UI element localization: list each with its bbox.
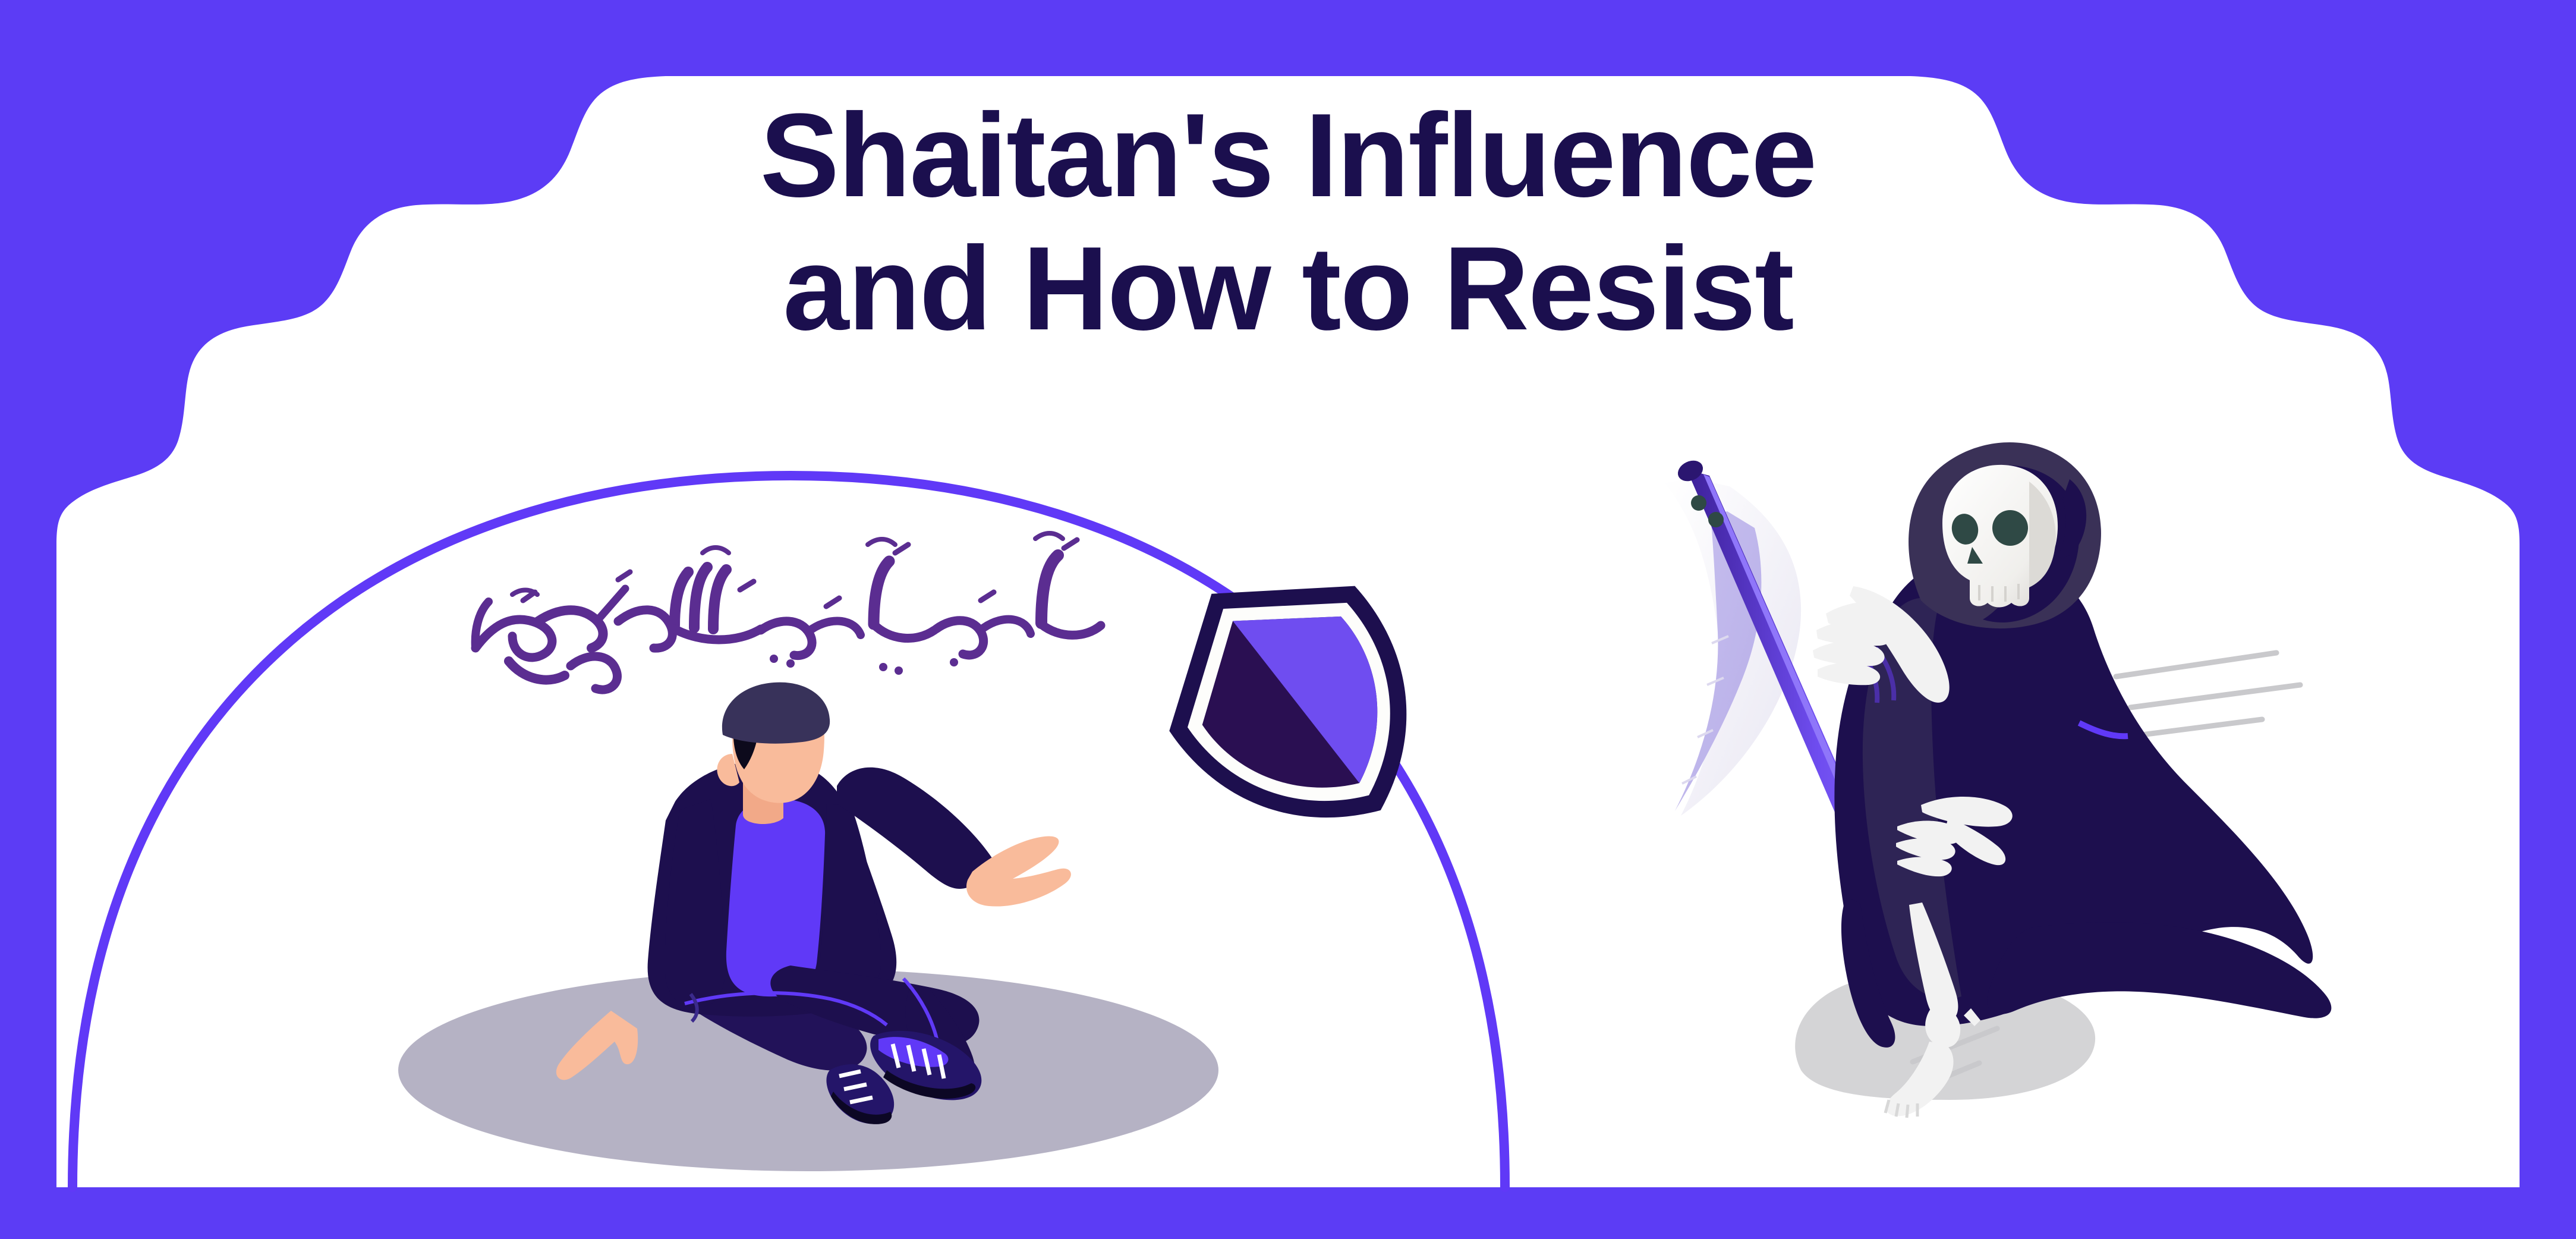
scythe-rivet-1 (1691, 495, 1706, 511)
arabic-calligraphy (475, 533, 1101, 690)
shirt (726, 799, 825, 996)
shield-icon (1119, 521, 1474, 883)
kufi-cap (722, 683, 830, 744)
poster-canvas: Shaitan's Influence and How to Resist (0, 0, 2576, 1239)
left-scene (73, 476, 1505, 1187)
illustration-layer (0, 0, 2576, 1239)
scythe-rivet-2 (1708, 512, 1724, 527)
right-scene (1664, 442, 2331, 1118)
jacket-lapel-right (820, 804, 881, 999)
